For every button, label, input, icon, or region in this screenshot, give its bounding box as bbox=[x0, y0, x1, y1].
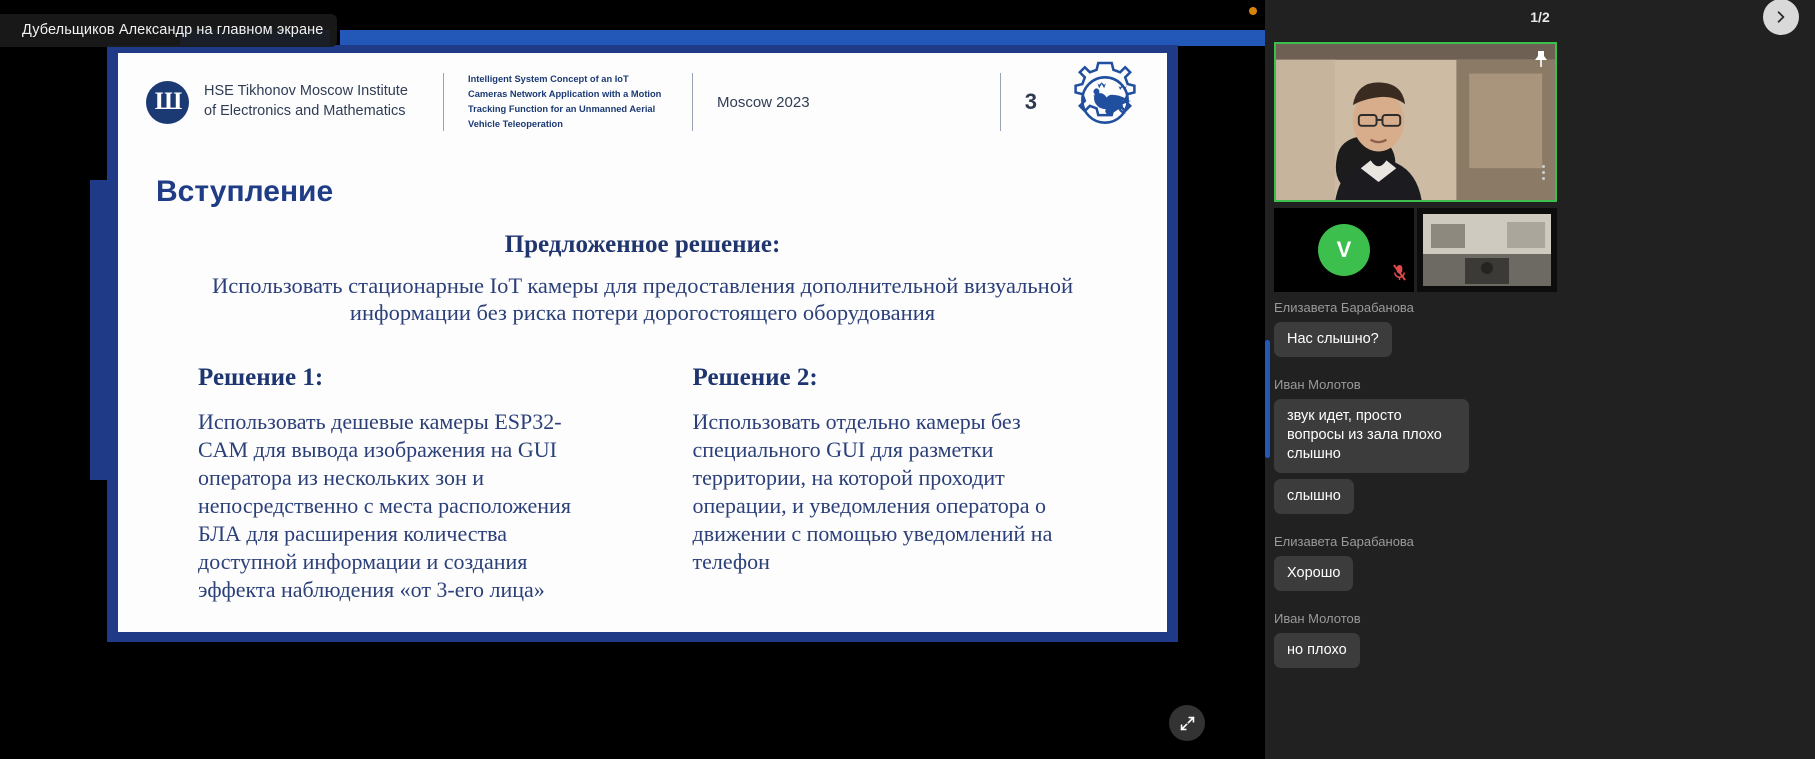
chat-message[interactable]: Нас слышно? bbox=[1274, 322, 1392, 357]
chat-message[interactable]: Хорошо bbox=[1274, 556, 1353, 591]
speaker-video-frame bbox=[1276, 44, 1555, 202]
slide-header: Ш HSE Tikhonov Moscow Institute of Elect… bbox=[118, 53, 1167, 151]
chevron-right-icon bbox=[1773, 9, 1789, 25]
header-divider-2 bbox=[692, 73, 693, 131]
solution-column-1: Решение 1: Использовать дешевые камеры E… bbox=[198, 364, 603, 604]
miem-gear-griffin-logo-icon bbox=[1063, 58, 1147, 147]
proposed-solution-heading: Предложенное решение: bbox=[118, 231, 1167, 259]
chat-group: Иван Молотов но плохо bbox=[1265, 611, 1801, 674]
more-vertical-icon[interactable] bbox=[1542, 165, 1545, 180]
slide-decor-band-top bbox=[340, 30, 1265, 46]
video-tile-room-camera[interactable] bbox=[1417, 208, 1557, 292]
screen-share-stage[interactable]: Дубельщиков Александр на главном экране … bbox=[0, 0, 1265, 759]
right-sidebar: 1/2 bbox=[1265, 0, 1815, 759]
chat-author: Иван Молотов bbox=[1274, 611, 1801, 626]
next-page-button[interactable] bbox=[1763, 0, 1799, 35]
header-divider-1 bbox=[443, 73, 444, 131]
chat-message[interactable]: но плохо bbox=[1274, 633, 1360, 668]
solution-1-heading: Решение 1: bbox=[198, 364, 603, 392]
avatar: V bbox=[1318, 224, 1370, 276]
solution-column-2: Решение 2: Использовать отдельно камеры … bbox=[653, 364, 1098, 604]
recording-indicator-dot bbox=[1249, 7, 1257, 15]
video-tile-participant-audio-only[interactable]: V bbox=[1274, 208, 1414, 292]
chat-author: Иван Молотов bbox=[1274, 377, 1801, 392]
slide-title: Вступление bbox=[156, 175, 1167, 209]
chat-message[interactable]: слышно bbox=[1274, 479, 1354, 514]
chat-author: Елизавета Барабанова bbox=[1274, 534, 1801, 549]
chat-group: Елизавета Барабанова Нас слышно? bbox=[1265, 300, 1801, 363]
institute-name: HSE Tikhonov Moscow Institute of Electro… bbox=[204, 82, 419, 121]
solution-1-body: Использовать дешевые камеры ESP32-CAM дл… bbox=[198, 408, 603, 604]
page-indicator-label: 1/2 bbox=[1530, 9, 1549, 25]
chat-author: Елизавета Барабанова bbox=[1274, 300, 1801, 315]
proposed-solution-body: Использовать стационарные IoT камеры для… bbox=[170, 273, 1115, 326]
page-indicator: 1/2 bbox=[1265, 0, 1815, 34]
solution-2-body: Использовать отдельно камеры без специал… bbox=[693, 408, 1098, 576]
chat-group: Елизавета Барабанова Хорошо bbox=[1265, 534, 1801, 597]
slide: Ш HSE Tikhonov Moscow Institute of Elect… bbox=[118, 53, 1167, 632]
room-camera-frame bbox=[1417, 208, 1557, 292]
solution-2-heading: Решение 2: bbox=[693, 364, 1098, 392]
slide-frame: Ш HSE Tikhonov Moscow Institute of Elect… bbox=[107, 45, 1178, 642]
chat-message-list[interactable]: Елизавета Барабанова Нас слышно? Иван Мо… bbox=[1265, 300, 1815, 759]
mic-off-icon bbox=[1392, 264, 1407, 286]
app-root: Дубельщиков Александр на главном экране … bbox=[0, 0, 1815, 759]
slide-decor-band-left bbox=[90, 180, 108, 480]
chat-message[interactable]: звук идет, просто вопросы из зала плохо … bbox=[1274, 399, 1469, 472]
screen-share-label: Дубельщиков Александр на главном экране bbox=[0, 14, 337, 47]
fullscreen-expand-icon[interactable] bbox=[1169, 705, 1205, 741]
video-tile-active-speaker[interactable] bbox=[1274, 42, 1557, 202]
paper-title: Intelligent System Concept of an IoT Cam… bbox=[468, 72, 668, 132]
hse-logo-mark: Ш bbox=[155, 88, 180, 116]
pin-icon[interactable] bbox=[1534, 50, 1548, 73]
video-thumbnail-row: V bbox=[1274, 208, 1557, 292]
solutions-columns: Решение 1: Использовать дешевые камеры E… bbox=[118, 364, 1167, 604]
header-divider-3 bbox=[1000, 73, 1001, 131]
slide-number: 3 bbox=[1025, 89, 1037, 115]
conference-place: Moscow 2023 bbox=[717, 94, 810, 111]
hse-logo-icon: Ш bbox=[146, 81, 189, 124]
chat-group: Иван Молотов звук идет, просто вопросы и… bbox=[1265, 377, 1801, 520]
